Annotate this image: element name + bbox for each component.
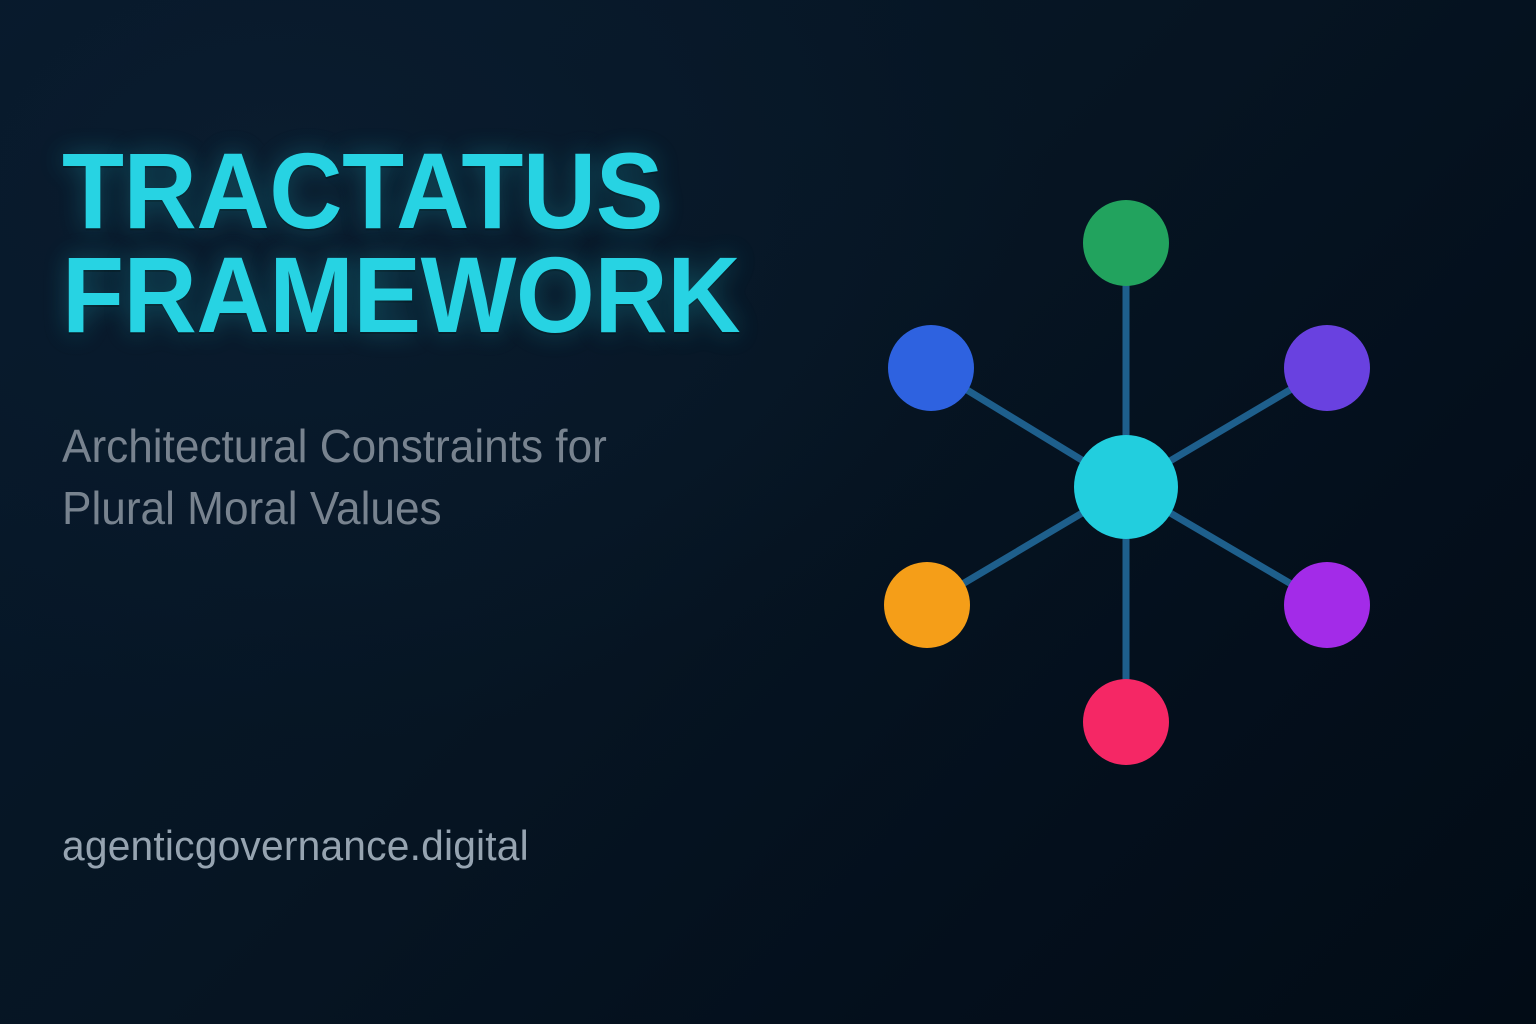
page-subtitle: Architectural Constraints for Plural Mor… — [62, 415, 607, 539]
node-upper-left-blue[interactable] — [888, 325, 974, 411]
center-node[interactable] — [1074, 435, 1178, 539]
footer-url: agenticgovernance.digital — [62, 820, 529, 872]
node-bottom-pink[interactable] — [1083, 679, 1169, 765]
node-top-green[interactable] — [1083, 200, 1169, 286]
node-upper-right-violet[interactable] — [1284, 325, 1370, 411]
title-card: TRACTATUS FRAMEWORK Architectural Constr… — [0, 0, 1536, 1024]
hub-and-spoke-diagram — [846, 150, 1446, 850]
text-column: TRACTATUS FRAMEWORK Architectural Constr… — [62, 0, 822, 1024]
diagram-nodes — [884, 200, 1370, 765]
node-lower-right-purple[interactable] — [1284, 562, 1370, 648]
page-title: TRACTATUS FRAMEWORK — [62, 139, 740, 347]
node-lower-left-orange[interactable] — [884, 562, 970, 648]
